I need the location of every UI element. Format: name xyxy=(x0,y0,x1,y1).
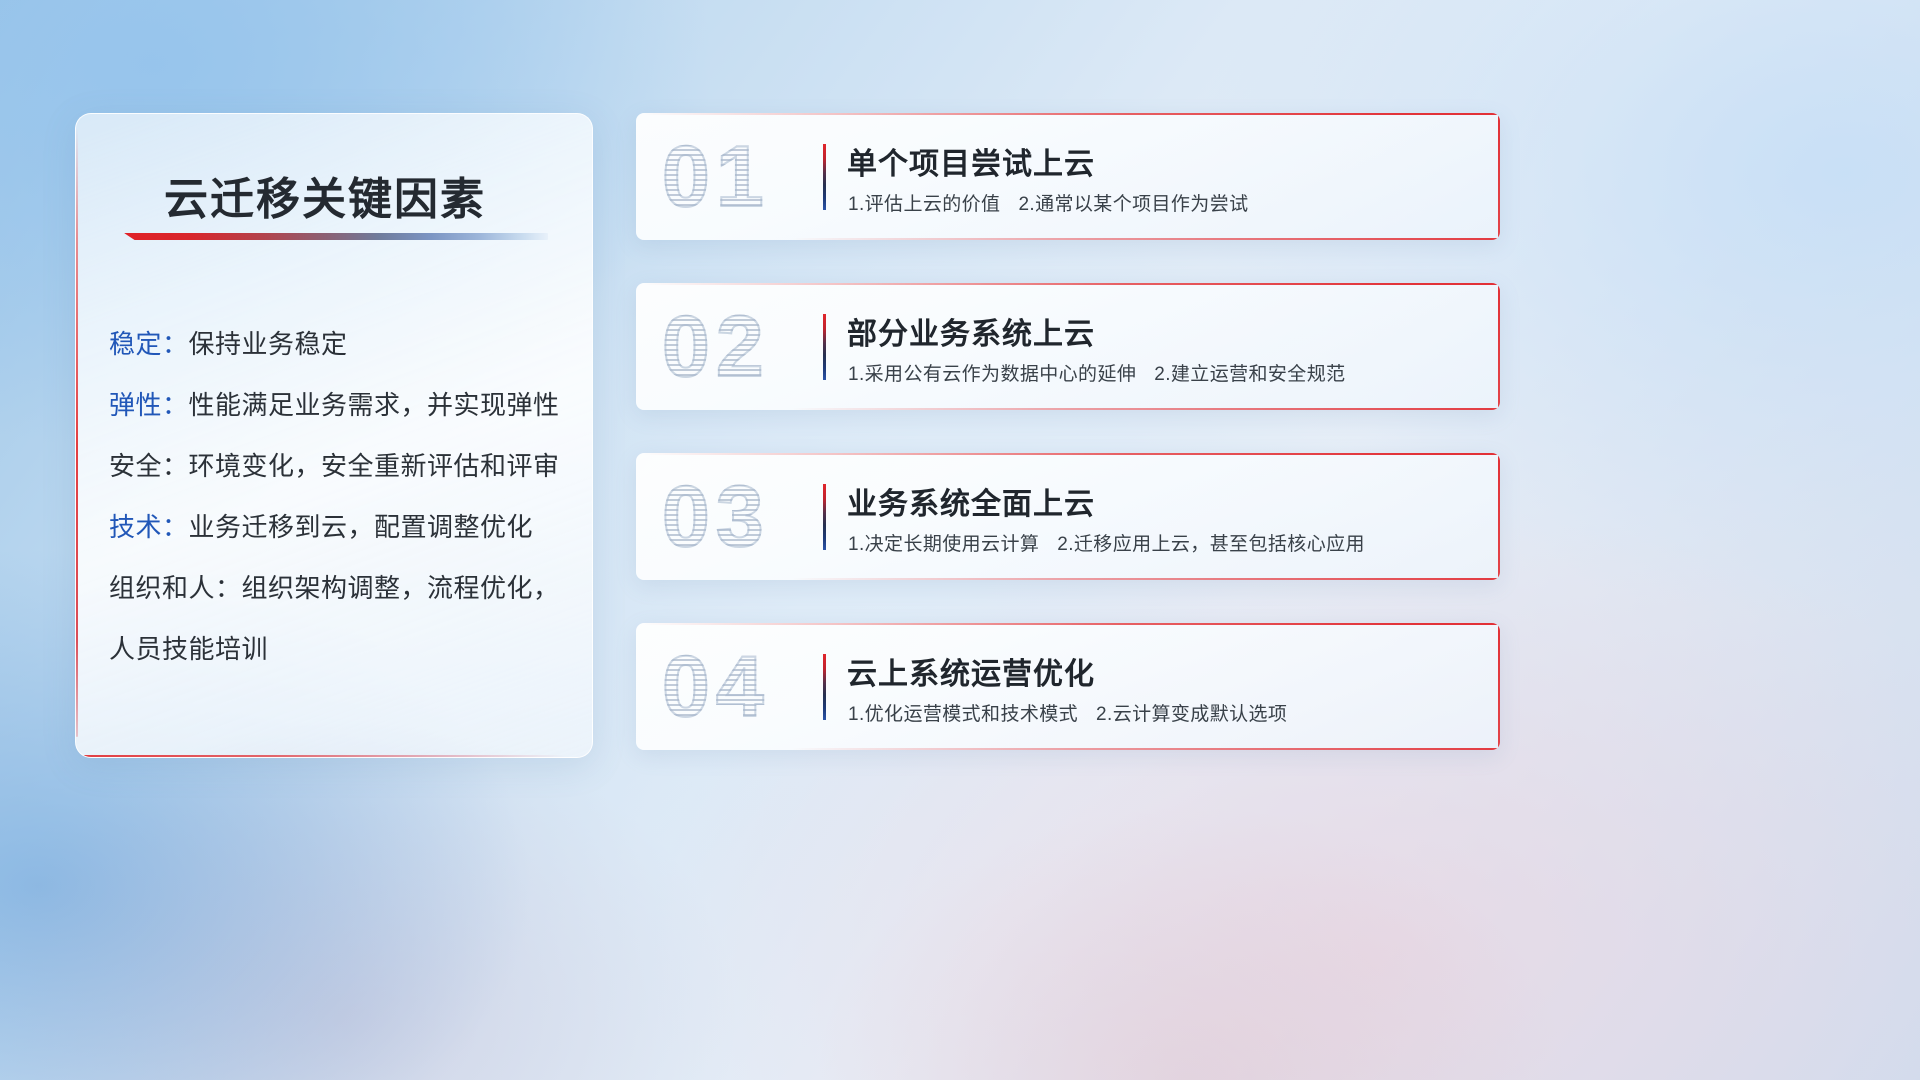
factor-item-elasticity: 弹性：性能满足业务需求，并实现弹性 xyxy=(109,375,570,436)
card-step-number: 02 xyxy=(662,299,770,395)
card-divider-bar xyxy=(823,314,826,380)
stage-cards-list: 01 单个项目尝试上云 1.评估上云的价值2.通常以某个项目作为尝试 02 部分… xyxy=(636,113,1500,793)
card-divider-bar xyxy=(823,144,826,210)
title-underline-rule xyxy=(124,233,548,240)
card-right-accent-line xyxy=(1498,623,1500,750)
card-bottom-accent-line xyxy=(792,578,1500,580)
card-description-part-2: 2.通常以某个项目作为尝试 xyxy=(1018,194,1248,215)
card-top-accent-line xyxy=(642,113,1500,115)
card-title: 单个项目尝试上云 xyxy=(847,139,1095,183)
card-step-number: 04 xyxy=(662,639,770,735)
card-title: 业务系统全面上云 xyxy=(847,479,1095,523)
card-step-number: 01 xyxy=(662,129,770,225)
panel-left-accent-line xyxy=(76,128,78,737)
card-description: 1.决定长期使用云计算2.迁移应用上云，甚至包括核心应用 xyxy=(848,529,1365,556)
page-title: 云迁移关键因素 xyxy=(164,163,486,227)
factor-body: 人员技能培训 xyxy=(109,634,268,664)
card-description-part-1: 1.采用公有云作为数据中心的延伸 xyxy=(848,364,1136,385)
card-bottom-accent-line xyxy=(792,408,1500,410)
panel-bottom-accent-line xyxy=(78,755,566,757)
key-factors-panel: 云迁移关键因素 稳定：保持业务稳定 弹性：性能满足业务需求，并实现弹性 安全：环… xyxy=(75,113,593,758)
stage-card-01[interactable]: 01 单个项目尝试上云 1.评估上云的价值2.通常以某个项目作为尝试 xyxy=(636,113,1500,240)
card-bottom-accent-line xyxy=(792,238,1500,240)
factor-label: 稳定： xyxy=(109,329,189,359)
card-right-accent-line xyxy=(1498,283,1500,410)
factor-label: 技术： xyxy=(109,512,189,542)
factor-body: 业务迁移到云，配置调整优化 xyxy=(189,512,534,542)
card-description-part-1: 1.优化运营模式和技术模式 xyxy=(848,704,1078,725)
factor-label: 组织和人： xyxy=(109,573,242,603)
card-divider-bar xyxy=(823,654,826,720)
card-description-part-2: 2.建立运营和安全规范 xyxy=(1154,364,1345,385)
stage-card-02[interactable]: 02 部分业务系统上云 1.采用公有云作为数据中心的延伸2.建立运营和安全规范 xyxy=(636,283,1500,410)
slide-canvas: 云迁移关键因素 稳定：保持业务稳定 弹性：性能满足业务需求，并实现弹性 安全：环… xyxy=(0,0,1920,1080)
card-top-accent-line xyxy=(642,283,1500,285)
stage-card-04[interactable]: 04 云上系统运营优化 1.优化运营模式和技术模式2.云计算变成默认选项 xyxy=(636,623,1500,750)
factor-item-security: 安全：环境变化，安全重新评估和评审 xyxy=(109,436,570,497)
card-step-number: 03 xyxy=(662,469,770,565)
factor-item-organization-cont: 人员技能培训 xyxy=(109,619,570,680)
factor-item-organization: 组织和人：组织架构调整，流程优化， xyxy=(109,558,570,619)
factor-label: 安全： xyxy=(109,451,189,481)
card-top-accent-line xyxy=(642,623,1500,625)
card-top-accent-line xyxy=(642,453,1500,455)
factor-body: 性能满足业务需求，并实现弹性 xyxy=(189,390,560,420)
card-divider-bar xyxy=(823,484,826,550)
card-description-part-1: 1.决定长期使用云计算 xyxy=(848,534,1039,555)
factor-body: 组织架构调整，流程优化， xyxy=(242,573,560,603)
card-title: 云上系统运营优化 xyxy=(847,649,1095,693)
card-description-part-2: 2.云计算变成默认选项 xyxy=(1096,704,1287,725)
card-title: 部分业务系统上云 xyxy=(847,309,1095,353)
factor-item-stability: 稳定：保持业务稳定 xyxy=(109,314,570,375)
factor-body: 环境变化，安全重新评估和评审 xyxy=(189,451,560,481)
card-description-part-2: 2.迁移应用上云，甚至包括核心应用 xyxy=(1057,534,1365,555)
card-right-accent-line xyxy=(1498,113,1500,240)
factor-item-technology: 技术：业务迁移到云，配置调整优化 xyxy=(109,497,570,558)
card-description: 1.评估上云的价值2.通常以某个项目作为尝试 xyxy=(848,189,1249,216)
card-description-part-1: 1.评估上云的价值 xyxy=(848,194,1000,215)
card-bottom-accent-line xyxy=(792,748,1500,750)
card-right-accent-line xyxy=(1498,453,1500,580)
factor-label: 弹性： xyxy=(109,390,189,420)
card-description: 1.采用公有云作为数据中心的延伸2.建立运营和安全规范 xyxy=(848,359,1346,386)
card-description: 1.优化运营模式和技术模式2.云计算变成默认选项 xyxy=(848,699,1287,726)
factor-body: 保持业务稳定 xyxy=(189,329,348,359)
stage-card-03[interactable]: 03 业务系统全面上云 1.决定长期使用云计算2.迁移应用上云，甚至包括核心应用 xyxy=(636,453,1500,580)
factors-list: 稳定：保持业务稳定 弹性：性能满足业务需求，并实现弹性 安全：环境变化，安全重新… xyxy=(109,314,570,680)
